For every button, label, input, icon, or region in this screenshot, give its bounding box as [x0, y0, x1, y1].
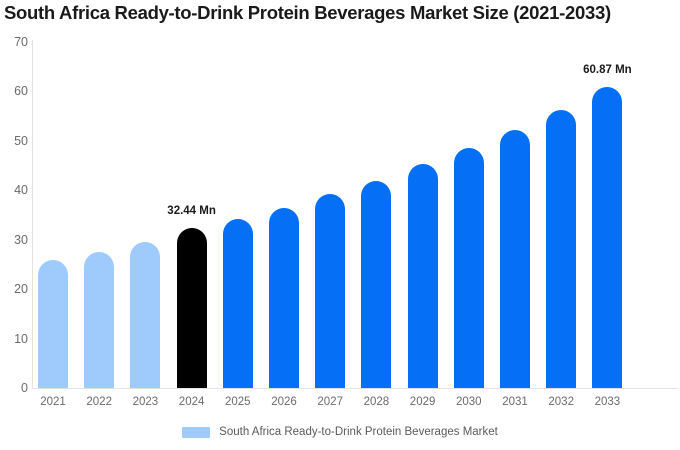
bar-group [269, 42, 299, 388]
bar-group [315, 42, 345, 388]
x-axis-tick-label-2033: 2033 [580, 396, 634, 408]
bar-2026[interactable] [269, 208, 299, 388]
y-axis-tick-label: 60 [2, 84, 28, 98]
bar-group [361, 42, 391, 388]
bar-2024[interactable] [177, 228, 207, 388]
bar-2023[interactable] [130, 242, 160, 388]
y-axis-tick-label: 70 [2, 35, 28, 49]
bar-group: 60.87 Mn [592, 42, 622, 388]
bar-2033[interactable] [592, 87, 622, 388]
bar-group [454, 42, 484, 388]
bar-2029[interactable] [408, 164, 438, 388]
bar-2022[interactable] [84, 252, 114, 388]
bar-value-label-2024: 32.44 Mn [167, 205, 216, 217]
bar-group: 32.44 Mn [177, 42, 207, 388]
bar-value-label-2033: 60.87 Mn [583, 64, 632, 76]
bar-group [130, 42, 160, 388]
bar-group [408, 42, 438, 388]
legend-swatch-icon [182, 427, 210, 438]
bar-2030[interactable] [454, 148, 484, 388]
bar-chart: South Africa Ready-to-Drink Protein Beve… [0, 0, 680, 450]
y-axis-tick-label: 0 [2, 381, 28, 395]
bar-2021[interactable] [38, 260, 68, 389]
bar-group [38, 42, 68, 388]
bar-2028[interactable] [361, 181, 391, 388]
bar-group [546, 42, 576, 388]
chart-title: South Africa Ready-to-Drink Protein Beve… [4, 2, 611, 24]
y-axis-tick-label: 40 [2, 183, 28, 197]
bar-2031[interactable] [500, 130, 530, 388]
y-axis-tick-label: 30 [2, 233, 28, 247]
y-axis-tick-labels: 010203040506070 [0, 0, 28, 450]
plot-area: 32.44 Mn60.87 Mn [33, 42, 678, 388]
bar-group [500, 42, 530, 388]
legend-label: South Africa Ready-to-Drink Protein Beve… [219, 426, 498, 438]
bar-group [84, 42, 114, 388]
chart-legend: South Africa Ready-to-Drink Protein Beve… [0, 426, 680, 438]
bar-2032[interactable] [546, 110, 576, 388]
bar-group [223, 42, 253, 388]
y-axis-tick-label: 10 [2, 332, 28, 346]
bar-2027[interactable] [315, 194, 345, 388]
bar-2025[interactable] [223, 219, 253, 388]
x-axis-line [32, 388, 678, 389]
y-axis-tick-label: 50 [2, 134, 28, 148]
y-axis-tick-label: 20 [2, 282, 28, 296]
